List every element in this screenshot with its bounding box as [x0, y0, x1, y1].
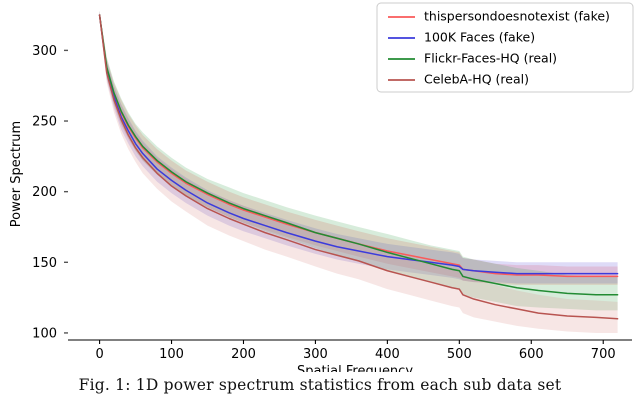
legend-label-0: thispersondoesnotexist (fake): [424, 9, 610, 24]
y-tick-label-300: 300: [32, 44, 57, 59]
x-tick-label-200: 200: [231, 347, 256, 362]
y-tick-label-200: 200: [32, 185, 57, 200]
y-axis-title: Power Spectrum: [9, 121, 24, 227]
x-tick-label-600: 600: [519, 347, 544, 362]
y-tick-label-100: 100: [32, 326, 57, 341]
legend-label-2: Flickr-Faces-HQ (real): [424, 51, 557, 66]
legend-label-3: CelebA-HQ (real): [424, 72, 529, 87]
x-tick-label-0: 0: [95, 347, 103, 362]
y-tick-label-150: 150: [32, 256, 57, 271]
figure-caption: Fig. 1: 1D power spectrum statistics fro…: [0, 376, 640, 394]
x-tick-label-400: 400: [375, 347, 400, 362]
x-axis-title: Spatial Frequency: [297, 364, 413, 372]
power-spectrum-chart: 0100200300400500600700100150200250300Spa…: [0, 0, 640, 372]
y-tick-label-250: 250: [32, 115, 57, 130]
x-tick-label-700: 700: [591, 347, 616, 362]
figure-container: 0100200300400500600700100150200250300Spa…: [0, 0, 640, 405]
x-tick-label-300: 300: [303, 347, 328, 362]
x-tick-label-100: 100: [159, 347, 184, 362]
legend-label-1: 100K Faces (fake): [424, 30, 535, 45]
x-tick-label-500: 500: [447, 347, 472, 362]
